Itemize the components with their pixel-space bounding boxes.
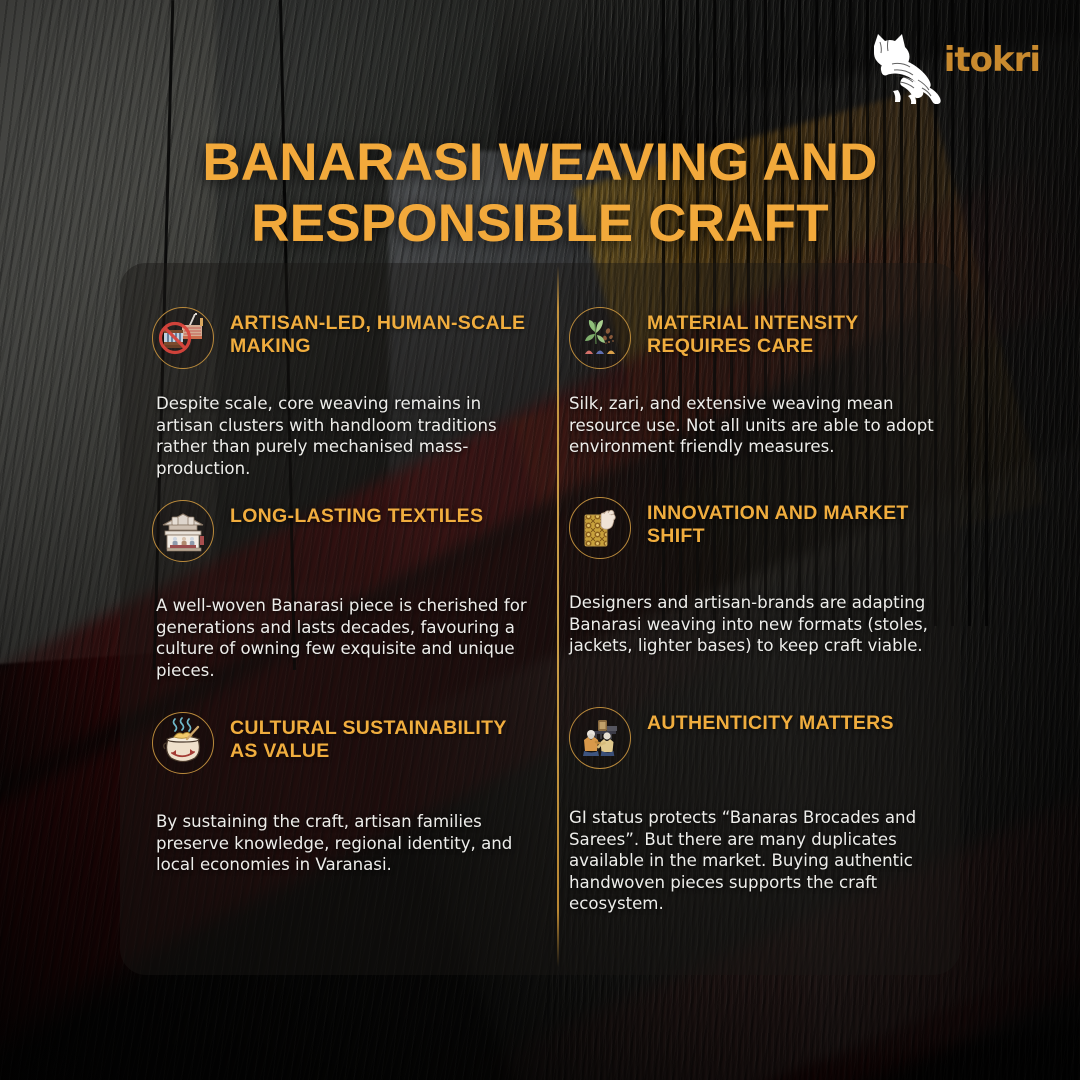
card-body: GI status protects “Banaras Brocades and… xyxy=(569,807,942,915)
card-header: ARTISAN-LED, HUMAN-SCALE MAKING xyxy=(152,305,535,369)
card-body: Silk, zari, and extensive weaving mean r… xyxy=(569,393,942,458)
two-weavers-at-loom-icon xyxy=(569,707,631,769)
natural-dye-materials-icon xyxy=(569,307,631,369)
card-header: INNOVATION AND MARKET SHIFT xyxy=(569,495,942,559)
card-title: ARTISAN-LED, HUMAN-SCALE MAKING xyxy=(230,305,535,359)
cat-icon xyxy=(860,28,952,104)
steaming-dye-pot-icon xyxy=(152,712,214,774)
card-title: AUTHENTICITY MATTERS xyxy=(647,705,894,735)
card-body: Despite scale, core weaving remains in a… xyxy=(152,393,535,479)
card-title: LONG-LASTING TEXTILES xyxy=(230,498,483,528)
artisan-workshop-building-icon xyxy=(152,500,214,562)
card-artisan-led: ARTISAN-LED, HUMAN-SCALE MAKING Despite … xyxy=(120,263,557,473)
card-title: CULTURAL SUSTAINABILITY AS VALUE xyxy=(230,710,535,764)
brand-logo-text: itokri xyxy=(944,40,1040,80)
card-title: INNOVATION AND MARKET SHIFT xyxy=(647,495,942,549)
benefits-grid: ARTISAN-LED, HUMAN-SCALE MAKING Despite … xyxy=(120,263,960,975)
infographic-canvas: itokri BANARASI WEAVING AND RESPONSIBLE … xyxy=(0,0,1080,1080)
card-body: By sustaining the craft, artisan familie… xyxy=(152,811,535,876)
card-header: CULTURAL SUSTAINABILITY AS VALUE xyxy=(152,710,535,774)
card-header: LONG-LASTING TEXTILES xyxy=(152,498,535,562)
card-title: MATERIAL INTENSITY REQUIRES CARE xyxy=(647,305,942,359)
page-title-line-2: RESPONSIBLE CRAFT xyxy=(90,193,990,254)
page-title-line-1: BANARASI WEAVING AND xyxy=(202,133,877,192)
card-authenticity-matters: AUTHENTICITY MATTERS GI status protects … xyxy=(557,688,960,975)
page-title: BANARASI WEAVING AND RESPONSIBLE CRAFT xyxy=(0,132,1080,255)
no-power-loom-icon xyxy=(152,307,214,369)
card-long-lasting-textiles: LONG-LASTING TEXTILES A well-woven Banar… xyxy=(120,473,557,688)
card-header: AUTHENTICITY MATTERS xyxy=(569,705,942,769)
card-body: Designers and artisan-brands are adaptin… xyxy=(569,592,942,657)
brand-logo[interactable]: itokri xyxy=(944,40,1040,80)
card-header: MATERIAL INTENSITY REQUIRES CARE xyxy=(569,305,942,369)
card-material-intensity: MATERIAL INTENSITY REQUIRES CARE Silk, z… xyxy=(557,263,960,473)
card-body: A well-woven Banarasi piece is cherished… xyxy=(152,595,535,681)
hand-holding-brocade-swatch-icon xyxy=(569,497,631,559)
card-innovation-market-shift: INNOVATION AND MARKET SHIFT Designers an… xyxy=(557,473,960,688)
card-cultural-sustainability: CULTURAL SUSTAINABILITY AS VALUE By sust… xyxy=(120,688,557,975)
